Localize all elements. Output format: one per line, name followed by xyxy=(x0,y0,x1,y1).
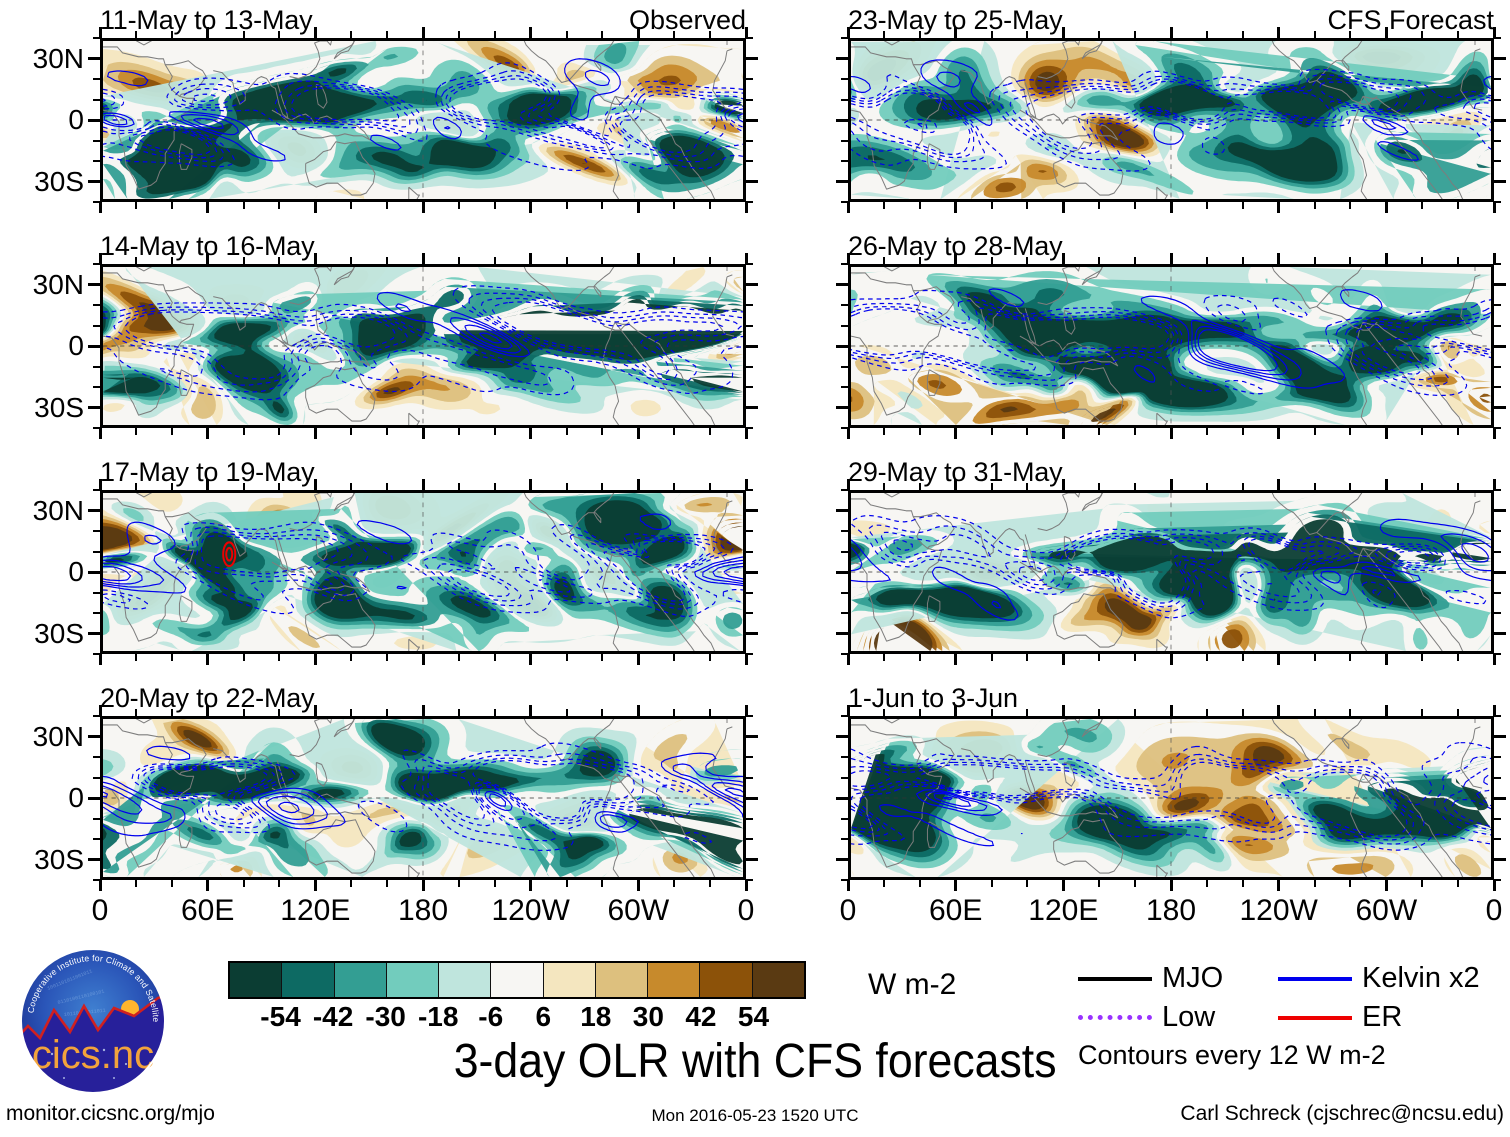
axis-tick xyxy=(422,654,425,665)
axis-tick xyxy=(745,880,748,891)
axis-tick xyxy=(494,880,496,887)
axis-tick xyxy=(529,202,532,213)
colorbar-swatch xyxy=(544,963,596,997)
axis-tick xyxy=(1494,386,1501,388)
axis-tick xyxy=(1494,57,1506,60)
axis-tick xyxy=(1206,654,1208,661)
axis-tick xyxy=(1494,735,1506,738)
axis-tick xyxy=(88,509,100,512)
map-plot-area xyxy=(848,264,1494,428)
axis-tick xyxy=(1277,202,1280,213)
axis-tick xyxy=(494,654,496,661)
axis-tick xyxy=(1170,880,1173,891)
map-plot-area xyxy=(100,490,746,654)
axis-tick xyxy=(746,838,753,840)
axis-tick xyxy=(1349,31,1351,38)
x-axis-label: 0 xyxy=(738,894,755,928)
axis-tick xyxy=(135,257,137,264)
axis-tick xyxy=(746,632,758,635)
axis-tick xyxy=(93,325,100,327)
axis-tick xyxy=(1494,201,1501,203)
axis-tick xyxy=(135,709,137,716)
axis-tick xyxy=(1062,880,1065,891)
axis-tick xyxy=(1206,202,1208,209)
axis-tick xyxy=(709,31,711,38)
axis-tick xyxy=(1134,654,1136,661)
colorbar-tick: 6 xyxy=(535,1001,551,1033)
axis-tick xyxy=(422,27,425,38)
axis-tick xyxy=(99,880,102,891)
axis-tick xyxy=(919,31,921,38)
axis-tick xyxy=(1098,202,1100,209)
axis-tick xyxy=(746,551,753,553)
axis-tick xyxy=(746,345,758,348)
colorbar-tick-labels: -54-42-30-18-6618304254 xyxy=(228,999,806,1033)
axis-tick xyxy=(93,653,100,655)
axis-tick xyxy=(1494,715,1501,717)
axis-tick xyxy=(841,99,848,101)
axis-tick xyxy=(1349,880,1351,887)
axis-tick xyxy=(637,428,640,439)
axis-tick xyxy=(841,263,848,265)
axis-tick xyxy=(954,880,957,891)
axis-tick xyxy=(350,428,352,435)
y-axis-label: 30N xyxy=(33,269,84,301)
cics-nc-logo: 1001101011001011 0110100110100101 101100… xyxy=(18,946,168,1096)
axis-tick xyxy=(836,406,848,409)
colorbar-tick: -6 xyxy=(478,1001,503,1033)
legend-label: MJO xyxy=(1162,962,1223,995)
axis-tick xyxy=(1206,880,1208,887)
axis-tick xyxy=(135,202,137,209)
axis-tick xyxy=(841,366,848,368)
axis-tick xyxy=(1494,777,1501,779)
axis-tick xyxy=(637,27,640,38)
axis-tick xyxy=(1493,428,1496,439)
axis-tick xyxy=(99,654,102,665)
axis-tick xyxy=(847,654,850,665)
footer-author: Carl Schreck (cjschrec@ncsu.edu) xyxy=(1180,1102,1504,1126)
axis-tick xyxy=(1494,325,1501,327)
axis-tick xyxy=(1242,654,1244,661)
legend-line-swatch xyxy=(1078,1015,1152,1020)
axis-tick xyxy=(1457,202,1459,209)
map-panel-8: 1-Jun to 3-Jun060E120E180120W60W0 xyxy=(848,716,1494,880)
axis-tick xyxy=(841,818,848,820)
axis-tick xyxy=(206,253,209,264)
axis-tick xyxy=(99,428,102,439)
axis-tick xyxy=(954,253,957,264)
axis-tick xyxy=(1242,31,1244,38)
axis-tick xyxy=(1134,257,1136,264)
axis-tick xyxy=(746,858,758,861)
axis-tick xyxy=(841,777,848,779)
axis-tick xyxy=(601,257,603,264)
axis-tick xyxy=(88,571,100,574)
axis-tick xyxy=(88,735,100,738)
axis-tick xyxy=(841,530,848,532)
axis-tick xyxy=(135,654,137,661)
axis-tick xyxy=(1349,202,1351,209)
axis-tick xyxy=(746,263,753,265)
axis-tick xyxy=(135,428,137,435)
axis-tick xyxy=(135,880,137,887)
axis-tick xyxy=(1206,483,1208,490)
axis-tick xyxy=(566,483,568,490)
axis-tick xyxy=(991,31,993,38)
axis-tick xyxy=(746,366,753,368)
axis-tick xyxy=(458,654,460,661)
axis-tick xyxy=(494,428,496,435)
axis-tick xyxy=(1314,257,1316,264)
axis-tick xyxy=(386,709,388,716)
colorbar-tick: 54 xyxy=(738,1001,769,1033)
axis-tick xyxy=(1494,180,1506,183)
axis-tick xyxy=(673,31,675,38)
axis-tick xyxy=(422,880,425,891)
axis-tick xyxy=(206,479,209,490)
axis-tick xyxy=(746,283,758,286)
legend-item-er: ER xyxy=(1278,1001,1498,1034)
axis-tick xyxy=(836,57,848,60)
axis-tick xyxy=(601,428,603,435)
axis-tick xyxy=(709,202,711,209)
axis-tick xyxy=(883,202,885,209)
axis-tick xyxy=(1277,253,1280,264)
axis-tick xyxy=(919,654,921,661)
axis-tick xyxy=(1349,257,1351,264)
axis-tick xyxy=(841,879,848,881)
axis-tick xyxy=(1098,428,1100,435)
axis-tick xyxy=(1349,428,1351,435)
axis-tick xyxy=(1062,202,1065,213)
axis-tick xyxy=(1242,880,1244,887)
axis-tick xyxy=(1494,345,1506,348)
axis-tick xyxy=(88,797,100,800)
axis-tick xyxy=(841,756,848,758)
legend-line-swatch xyxy=(1078,977,1152,981)
axis-tick xyxy=(1494,406,1506,409)
axis-tick xyxy=(1062,654,1065,665)
axis-tick xyxy=(529,253,532,264)
colorbar-swatch xyxy=(648,963,700,997)
axis-tick xyxy=(1457,257,1459,264)
axis-tick xyxy=(673,709,675,716)
axis-tick xyxy=(841,78,848,80)
axis-tick xyxy=(1494,879,1501,881)
y-axis-label: 30S xyxy=(34,844,84,876)
legend-label: ER xyxy=(1362,1001,1402,1034)
axis-tick xyxy=(135,483,137,490)
axis-tick xyxy=(1385,253,1388,264)
y-axis-label: 30S xyxy=(34,392,84,424)
axis-tick xyxy=(206,880,209,891)
axis-tick xyxy=(386,257,388,264)
axis-tick xyxy=(566,202,568,209)
x-axis-label: 120E xyxy=(280,894,350,928)
axis-tick xyxy=(746,612,753,614)
axis-tick xyxy=(883,880,885,887)
colorbar-swatch xyxy=(387,963,439,997)
axis-tick xyxy=(135,31,137,38)
axis-tick xyxy=(1349,483,1351,490)
axis-tick xyxy=(637,202,640,213)
axis-tick xyxy=(243,257,245,264)
axis-tick xyxy=(314,27,317,38)
x-axis-label: 0 xyxy=(92,894,109,928)
axis-tick xyxy=(278,880,280,887)
axis-tick xyxy=(919,483,921,490)
legend-items: MJOKelvin x2LowER xyxy=(1078,962,1498,1034)
axis-tick xyxy=(350,31,352,38)
axis-tick xyxy=(836,632,848,635)
axis-tick xyxy=(1494,366,1501,368)
axis-tick xyxy=(883,709,885,716)
axis-tick xyxy=(841,140,848,142)
axis-tick xyxy=(93,530,100,532)
axis-tick xyxy=(836,180,848,183)
axis-tick xyxy=(1494,427,1501,429)
axis-tick xyxy=(93,715,100,717)
axis-tick xyxy=(494,483,496,490)
colorbar-swatch xyxy=(282,963,334,997)
main-title-text: 3-day OLR with CFS forecasts xyxy=(454,1034,1057,1089)
axis-tick xyxy=(709,428,711,435)
axis-tick xyxy=(1098,31,1100,38)
axis-tick xyxy=(954,27,957,38)
x-axis-label: 0 xyxy=(840,894,857,928)
axis-tick xyxy=(529,27,532,38)
axis-tick xyxy=(278,202,280,209)
contour-legend: MJOKelvin x2LowER Contours every 12 W m-… xyxy=(1078,962,1498,1071)
axis-tick xyxy=(1494,489,1501,491)
axis-tick xyxy=(1494,551,1501,553)
axis-tick xyxy=(954,705,957,716)
axis-tick xyxy=(991,880,993,887)
axis-tick xyxy=(601,483,603,490)
axis-tick xyxy=(350,257,352,264)
axis-tick xyxy=(746,37,753,39)
y-axis-label: 30S xyxy=(34,618,84,650)
axis-tick xyxy=(601,31,603,38)
axis-tick xyxy=(171,709,173,716)
axis-tick xyxy=(637,880,640,891)
axis-tick xyxy=(1206,31,1208,38)
axis-tick xyxy=(171,257,173,264)
axis-tick xyxy=(919,428,921,435)
axis-tick xyxy=(919,257,921,264)
axis-tick xyxy=(841,37,848,39)
axis-tick xyxy=(745,428,748,439)
axis-tick xyxy=(673,202,675,209)
axis-tick xyxy=(1385,654,1388,665)
axis-tick xyxy=(991,202,993,209)
axis-tick xyxy=(171,880,173,887)
axis-tick xyxy=(1170,705,1173,716)
axis-tick xyxy=(841,612,848,614)
axis-tick xyxy=(93,37,100,39)
axis-tick xyxy=(350,483,352,490)
contour-interval-note: Contours every 12 W m-2 xyxy=(1078,1040,1498,1071)
axis-tick xyxy=(991,654,993,661)
axis-tick xyxy=(847,202,850,213)
map-panel-5: 23-May to 25-MayCFS Forecast xyxy=(848,38,1494,202)
axis-tick xyxy=(278,257,280,264)
axis-tick xyxy=(991,483,993,490)
map-panel-7: 29-May to 31-May xyxy=(848,490,1494,654)
axis-tick xyxy=(1494,119,1506,122)
axis-tick xyxy=(1170,479,1173,490)
x-axis-label: 60W xyxy=(607,894,669,928)
axis-tick xyxy=(93,427,100,429)
axis-tick xyxy=(458,483,460,490)
y-axis-label: 0 xyxy=(68,782,84,814)
axis-tick xyxy=(883,483,885,490)
axis-tick xyxy=(1098,483,1100,490)
axis-tick xyxy=(1494,858,1506,861)
axis-tick xyxy=(243,483,245,490)
axis-tick xyxy=(93,386,100,388)
axis-tick xyxy=(919,880,921,887)
axis-tick xyxy=(836,119,848,122)
y-axis-label: 30N xyxy=(33,495,84,527)
axis-tick xyxy=(93,201,100,203)
axis-tick xyxy=(93,160,100,162)
axis-tick xyxy=(745,654,748,665)
axis-tick xyxy=(746,509,758,512)
axis-tick xyxy=(954,654,957,665)
axis-tick xyxy=(1421,483,1423,490)
colorbar-tick: -54 xyxy=(260,1001,300,1033)
axis-tick xyxy=(1026,880,1028,887)
axis-tick xyxy=(1349,654,1351,661)
axis-tick xyxy=(1494,632,1506,635)
axis-tick xyxy=(1494,160,1501,162)
axis-tick xyxy=(746,489,753,491)
axis-tick xyxy=(746,715,753,717)
colorbar-swatch xyxy=(491,963,543,997)
axis-tick xyxy=(88,345,100,348)
axis-tick xyxy=(1385,202,1388,213)
x-axis-label: 120E xyxy=(1028,894,1098,928)
axis-tick xyxy=(529,880,532,891)
axis-tick xyxy=(1277,27,1280,38)
axis-tick xyxy=(836,797,848,800)
axis-tick xyxy=(314,880,317,891)
colorbar-tick: 18 xyxy=(580,1001,611,1033)
axis-tick xyxy=(93,818,100,820)
axis-tick xyxy=(93,592,100,594)
axis-tick xyxy=(841,592,848,594)
legend-item-low: Low xyxy=(1078,1001,1278,1034)
axis-tick xyxy=(1421,257,1423,264)
axis-tick xyxy=(1457,880,1459,887)
axis-tick xyxy=(991,257,993,264)
axis-tick xyxy=(93,879,100,881)
axis-tick xyxy=(601,654,603,661)
axis-tick xyxy=(99,202,102,213)
axis-tick xyxy=(1026,654,1028,661)
axis-tick xyxy=(314,479,317,490)
axis-tick xyxy=(1457,483,1459,490)
colorbar-swatch xyxy=(335,963,387,997)
axis-tick xyxy=(637,253,640,264)
axis-tick xyxy=(841,201,848,203)
axis-tick xyxy=(171,428,173,435)
axis-tick xyxy=(1494,99,1501,101)
axis-tick xyxy=(1314,709,1316,716)
axis-tick xyxy=(278,654,280,661)
axis-tick xyxy=(1385,880,1388,891)
axis-tick xyxy=(1277,428,1280,439)
axis-tick xyxy=(494,202,496,209)
axis-tick xyxy=(836,735,848,738)
axis-tick xyxy=(314,428,317,439)
axis-tick xyxy=(93,551,100,553)
axis-tick xyxy=(746,756,753,758)
axis-tick xyxy=(243,428,245,435)
axis-tick xyxy=(1457,709,1459,716)
footer-url[interactable]: monitor.cicsnc.org/mjo xyxy=(6,1102,215,1126)
axis-tick xyxy=(206,202,209,213)
colorbar-units-label: W m-2 xyxy=(868,968,956,1002)
axis-tick xyxy=(601,709,603,716)
colorbar-swatches xyxy=(228,961,806,999)
axis-tick xyxy=(1314,202,1316,209)
axis-tick xyxy=(1134,202,1136,209)
axis-tick xyxy=(836,283,848,286)
axis-tick xyxy=(954,479,957,490)
axis-tick xyxy=(883,428,885,435)
axis-tick xyxy=(1385,27,1388,38)
axis-tick xyxy=(746,180,758,183)
axis-tick xyxy=(841,838,848,840)
axis-tick xyxy=(243,880,245,887)
axis-tick xyxy=(1026,31,1028,38)
axis-tick xyxy=(954,428,957,439)
axis-tick xyxy=(422,428,425,439)
axis-tick xyxy=(1349,709,1351,716)
axis-tick xyxy=(494,31,496,38)
axis-tick xyxy=(243,654,245,661)
axis-tick xyxy=(93,140,100,142)
legend-label: Low xyxy=(1162,1001,1215,1034)
axis-tick xyxy=(1062,253,1065,264)
axis-tick xyxy=(1062,428,1065,439)
axis-tick xyxy=(1493,202,1496,213)
colorbar-tick: -18 xyxy=(418,1001,458,1033)
axis-tick xyxy=(841,653,848,655)
axis-tick xyxy=(673,428,675,435)
axis-tick xyxy=(1421,31,1423,38)
x-axis-label: 60W xyxy=(1355,894,1417,928)
colorbar-swatch xyxy=(700,963,752,997)
axis-tick xyxy=(637,654,640,665)
axis-tick xyxy=(1098,257,1100,264)
map-plot-area xyxy=(848,716,1494,880)
colorbar-swatch xyxy=(230,963,282,997)
axis-tick xyxy=(1494,37,1501,39)
axis-tick xyxy=(206,428,209,439)
axis-tick xyxy=(746,777,753,779)
axis-tick xyxy=(1457,31,1459,38)
legend-item-kelvin-x2: Kelvin x2 xyxy=(1278,962,1498,995)
axis-tick xyxy=(386,880,388,887)
axis-tick xyxy=(566,880,568,887)
axis-tick xyxy=(673,257,675,264)
axis-tick xyxy=(88,406,100,409)
axis-tick xyxy=(1494,592,1501,594)
